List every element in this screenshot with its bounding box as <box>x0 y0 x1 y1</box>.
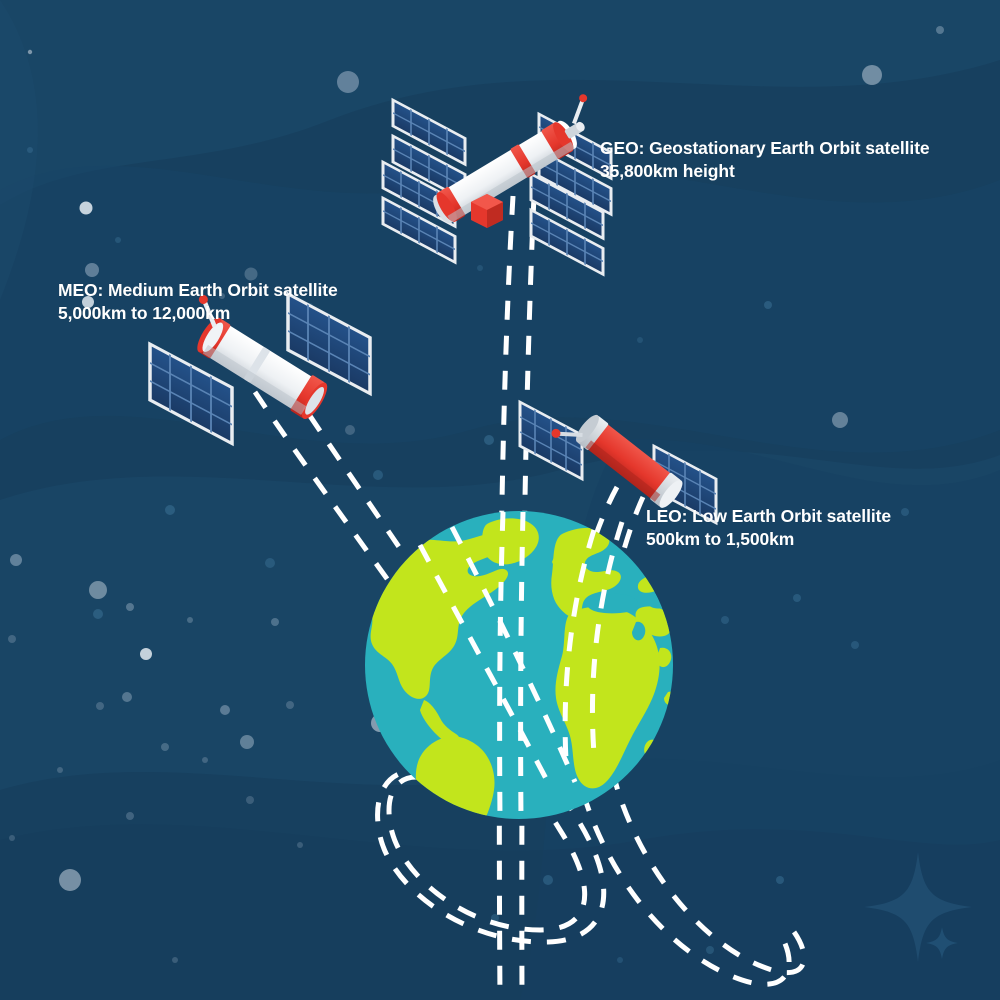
geo-label-line2: 35,800km height <box>600 160 930 183</box>
leo-label-line2: 500km to 1,500km <box>646 528 891 551</box>
meo-label-line2: 5,000km to 12,000km <box>58 302 338 325</box>
geo-label: GEO: Geostationary Earth Orbit satellite… <box>600 137 930 183</box>
satellite-orbit-diagram: GEO: Geostationary Earth Orbit satellite… <box>0 0 1000 1000</box>
leo-label: LEO: Low Earth Orbit satellite 500km to … <box>646 505 891 551</box>
leo-label-line1: LEO: Low Earth Orbit satellite <box>646 506 891 526</box>
geo-label-line1: GEO: Geostationary Earth Orbit satellite <box>600 138 930 158</box>
meo-label: MEO: Medium Earth Orbit satellite 5,000k… <box>58 279 338 325</box>
meo-label-line1: MEO: Medium Earth Orbit satellite <box>58 280 338 300</box>
